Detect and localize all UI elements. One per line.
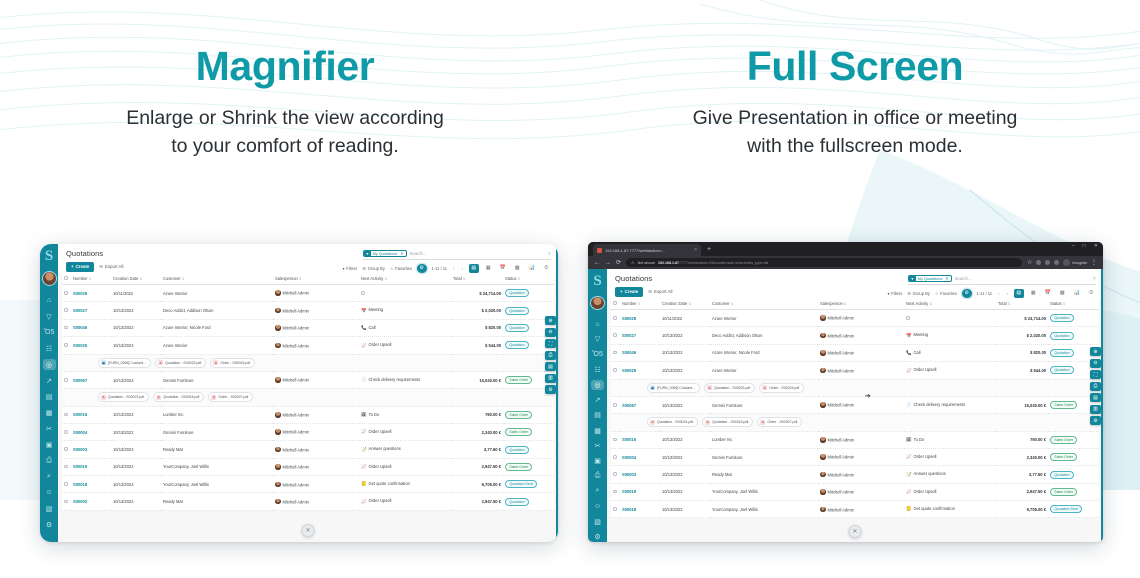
- checkbox-icon[interactable]: [64, 308, 68, 312]
- cell-creation-date: 10/11/2022: [111, 285, 161, 302]
- cell-customer: Deco Addict, Addison Olson: [710, 327, 818, 344]
- column-header-total[interactable]: Total⇅: [451, 273, 503, 285]
- quotation-number-link[interactable]: S00003: [622, 472, 636, 477]
- cell-creation-date: 10/13/2022: [111, 302, 161, 319]
- sort-icon[interactable]: ⇅: [638, 302, 641, 306]
- printer-icon[interactable]: ⎙: [43, 455, 56, 466]
- groupby-dropdown[interactable]: ☰ Group By: [362, 266, 385, 271]
- checkbox-icon[interactable]: [613, 333, 617, 337]
- attachment-chip[interactable]: AQuotation - S00023.pdf: [98, 392, 149, 402]
- calendar-icon[interactable]: Ὄ5: [43, 327, 56, 338]
- quotation-number-link[interactable]: S00002: [73, 499, 87, 504]
- sort-icon[interactable]: ⇅: [384, 277, 387, 281]
- checkbox-icon[interactable]: [613, 507, 617, 511]
- zoom-out-icon[interactable]: ⊖: [1090, 359, 1101, 368]
- table-row[interactable]: S0002810/11/2022Azure InteriorMitchell A…: [62, 285, 554, 302]
- column-header-customer[interactable]: Customer⇅: [710, 298, 818, 310]
- cell-number[interactable]: S00016: [71, 406, 111, 423]
- cell-number[interactable]: S00028: [620, 310, 660, 327]
- sort-icon[interactable]: ⇅: [688, 302, 691, 306]
- row-checkbox[interactable]: [62, 319, 71, 336]
- settings-icon[interactable]: ⚙: [545, 385, 556, 394]
- archive-icon[interactable]: ▤: [591, 410, 604, 420]
- sort-icon[interactable]: ⇅: [1063, 302, 1066, 306]
- column-header-customer[interactable]: Customer⇅: [161, 273, 273, 285]
- pivot-view-icon[interactable]: ▩: [1058, 289, 1068, 299]
- settings-icon[interactable]: ⚙: [43, 519, 56, 530]
- quotation-number-link[interactable]: S00016: [622, 437, 636, 442]
- row-checkbox[interactable]: [62, 493, 71, 510]
- avatar: [1063, 259, 1070, 266]
- column-header-status[interactable]: Status⇅: [503, 273, 545, 285]
- row-checkbox[interactable]: [611, 466, 620, 483]
- cell-end: [545, 458, 554, 475]
- column-header-creation-date[interactable]: Creation Date⇅: [660, 298, 710, 310]
- bookmark-star-icon[interactable]: ☆: [1027, 259, 1032, 266]
- search-facet[interactable]: ▼ My Quotations ✕: [908, 275, 952, 282]
- attachment-cell: ▣[FURN_0096] Customi...AQuotation - S000…: [611, 379, 1099, 396]
- list-view-icon[interactable]: ▤: [1014, 289, 1024, 299]
- checkbox-icon[interactable]: [613, 472, 617, 476]
- attachment-chip[interactable]: AQuotation - S00023.pdf: [704, 383, 755, 393]
- browser-tab[interactable]: 192.168.1.87:7777/web#action=... ×: [593, 244, 701, 256]
- quotation-number-link[interactable]: S00025: [73, 343, 87, 348]
- home-icon[interactable]: ⌂: [591, 319, 604, 329]
- maximize-icon[interactable]: □: [1083, 243, 1086, 249]
- sort-icon[interactable]: ⇅: [929, 302, 932, 306]
- kanban-view-icon[interactable]: ▦: [484, 264, 494, 274]
- attachment-chips: ▣[FURN_0096] Customi...AQuotation - S000…: [613, 383, 1097, 393]
- quotation-number-link[interactable]: S00019: [73, 464, 87, 469]
- favorites-dropdown[interactable]: ☆ Favorites: [390, 266, 412, 271]
- row-checkbox[interactable]: [62, 406, 71, 423]
- pivot-view-icon[interactable]: ▩: [513, 264, 523, 274]
- table-row[interactable]: S0000310/13/2022Ready MatMitchell Admin📝…: [62, 441, 554, 458]
- avatar: [275, 325, 281, 331]
- cell-customer: YourCompany, Joel Willis: [710, 501, 818, 518]
- row-checkbox[interactable]: [62, 337, 71, 354]
- checkbox-icon[interactable]: [64, 447, 68, 451]
- row-checkbox[interactable]: [611, 431, 620, 448]
- fullscreen-icon[interactable]: ⛶: [1090, 370, 1101, 379]
- sort-icon[interactable]: ⇅: [89, 277, 92, 281]
- checkbox-icon[interactable]: [64, 291, 68, 295]
- table-row[interactable]: S0002810/11/2022Azure InteriorMitchell A…: [611, 310, 1099, 327]
- row-checkbox[interactable]: [62, 423, 71, 440]
- cell-customer: Gemini Furniture: [161, 371, 273, 388]
- search-icon[interactable]: ⚲: [548, 251, 551, 257]
- vertical-scrollbar[interactable]: [1101, 269, 1103, 542]
- select-all-checkbox[interactable]: [611, 298, 620, 310]
- cell-end: [1090, 448, 1099, 465]
- cell-number[interactable]: S00027: [71, 302, 111, 319]
- target-icon[interactable]: ◎: [43, 359, 56, 370]
- checkbox-icon[interactable]: [613, 438, 617, 442]
- pager-prev-button[interactable]: ‹: [997, 291, 1000, 296]
- close-icon[interactable]: ×: [694, 247, 697, 253]
- search-icon[interactable]: ⚲: [1093, 276, 1096, 282]
- close-fab-button[interactable]: ✕: [302, 524, 315, 537]
- cell-number[interactable]: S00016: [620, 431, 660, 448]
- window-controls[interactable]: – □ ✕: [1072, 243, 1098, 249]
- total-amount: 760.00 €: [485, 412, 501, 417]
- search-icon[interactable]: ⌕: [591, 486, 604, 496]
- app-sidebar[interactable]: S⌂▽Ὄ5☷◎↗▤▦✂▣⎙⌕☺▧⚙: [588, 269, 607, 542]
- graph-view-icon[interactable]: 📊: [1072, 289, 1082, 299]
- filter-icon[interactable]: ▽: [43, 311, 56, 322]
- calendar-view-icon[interactable]: 📅: [498, 264, 508, 274]
- user-icon[interactable]: ☺: [43, 487, 56, 498]
- star-icon: ☆: [935, 291, 939, 296]
- activity-type-icon: 📈: [361, 343, 366, 348]
- cell-number[interactable]: S00057: [71, 371, 111, 388]
- table-row[interactable]: S0001610/13/2022Lumber IncMitchell Admin…: [62, 406, 554, 423]
- archive-icon[interactable]: ▤: [43, 391, 56, 402]
- app-sidebar[interactable]: S⌂▽Ὄ5☷◎↗▤▦✂▣⎙⌕☺▧⚙: [40, 244, 58, 542]
- groupby-dropdown[interactable]: ☰ Group By: [907, 291, 930, 296]
- quotation-number-link[interactable]: S00027: [73, 308, 87, 313]
- total-amount: 2,340.00 €: [482, 430, 501, 435]
- search-facet[interactable]: ▼ My Quotations ✕: [363, 250, 407, 257]
- table-row[interactable]: S0001810/13/2022YourCompany, Joel Willis…: [62, 476, 554, 493]
- sort-icon[interactable]: ⇅: [518, 277, 521, 281]
- cell-number[interactable]: S00046: [620, 344, 660, 361]
- attachment-label: Quotation - S00023.pdf: [165, 361, 201, 365]
- table-row[interactable]: S0002510/13/2022Azure InteriorMitchell A…: [611, 362, 1099, 379]
- quotation-number-link[interactable]: S00016: [73, 412, 87, 417]
- cell-number[interactable]: S00019: [620, 483, 660, 500]
- checkbox-icon[interactable]: [613, 301, 617, 305]
- column-header-salesperson[interactable]: Salesperson⇅: [273, 273, 359, 285]
- home-icon[interactable]: ⌂: [43, 295, 56, 306]
- quotation-number-link[interactable]: S00003: [73, 447, 87, 452]
- table-row[interactable]: S0000410/13/2022Gemini FurnitureMitchell…: [611, 448, 1099, 465]
- cell-number[interactable]: S00003: [620, 466, 660, 483]
- book-icon[interactable]: ▧: [43, 503, 56, 514]
- table-row[interactable]: S0004610/13/2022Azure Interior, Nicole F…: [62, 319, 554, 336]
- quotation-number-link[interactable]: S00046: [73, 325, 87, 330]
- column-header-next-activity[interactable]: Next Activity⇅: [904, 298, 996, 310]
- table-row[interactable]: S0002710/13/2022Deco Addict, Addison Ols…: [611, 327, 1099, 344]
- attachment-chip[interactable]: AOrder - S00015.pdf: [759, 383, 804, 393]
- settings-gear-button[interactable]: ⚙: [417, 264, 427, 274]
- row-checkbox[interactable]: [62, 476, 71, 493]
- close-window-icon[interactable]: ✕: [1094, 243, 1098, 249]
- reload-icon[interactable]: ⟳: [616, 259, 621, 266]
- incognito-indicator[interactable]: Incognito: [1063, 259, 1087, 266]
- column-header-label: Number: [622, 301, 637, 306]
- quotation-number-link[interactable]: S00027: [622, 333, 636, 338]
- app-logo[interactable]: S: [593, 274, 601, 289]
- search-bar[interactable]: ▼ My Quotations ✕ Search... ⚲: [363, 250, 551, 260]
- quotation-number-link[interactable]: S00004: [73, 430, 87, 435]
- filter-icon: ▼: [909, 276, 916, 281]
- grid-icon[interactable]: ▦: [43, 407, 56, 418]
- close-fab-button[interactable]: ✕: [849, 525, 862, 538]
- cell-number[interactable]: S00004: [620, 448, 660, 465]
- cell-number[interactable]: S00019: [71, 458, 111, 475]
- attachment-chip[interactable]: AQuotation - S00015.pdf: [702, 417, 753, 427]
- search-bar[interactable]: ▼ My Quotations ✕ Search... ⚲: [908, 275, 1096, 285]
- fullscreen-icon[interactable]: ⛶: [545, 339, 556, 348]
- settings-gear-button[interactable]: ⚙: [962, 289, 972, 299]
- checkbox-icon[interactable]: [64, 326, 68, 330]
- row-checkbox[interactable]: [62, 458, 71, 475]
- avatar[interactable]: [42, 271, 57, 286]
- target-icon[interactable]: ◎: [591, 380, 604, 390]
- activity-view-icon[interactable]: ⏱: [1087, 289, 1097, 299]
- cell-number[interactable]: S00028: [71, 285, 111, 302]
- row-checkbox[interactable]: [611, 501, 620, 518]
- sort-icon[interactable]: ⇅: [299, 277, 302, 281]
- quotation-number-link[interactable]: S00028: [622, 316, 636, 321]
- mouse-cursor-icon: ➔: [865, 392, 871, 400]
- chart-icon[interactable]: ↗: [591, 395, 604, 405]
- cell-number[interactable]: S00027: [620, 327, 660, 344]
- attachment-chips: ▣[FURN_0096] Customi...AQuotation - S000…: [64, 358, 552, 368]
- cell-number[interactable]: S00057: [620, 396, 660, 413]
- extension-icon[interactable]: [1045, 260, 1050, 265]
- zoom-in-icon[interactable]: ⊕: [545, 316, 556, 325]
- attachment-chip[interactable]: AQuotation - S00015.pdf: [153, 392, 204, 402]
- list-view-icon[interactable]: ▤: [469, 264, 479, 274]
- quotation-number-link[interactable]: S00004: [622, 455, 636, 460]
- quotations-table-wrapper-left[interactable]: Number⇅Creation Date⇅Customer⇅Salesperso…: [58, 273, 558, 542]
- table-row[interactable]: S0002710/13/2022Deco Addict, Addison Ols…: [62, 302, 554, 319]
- column-header-label: Next Activity: [906, 301, 928, 306]
- row-checkbox[interactable]: [62, 441, 71, 458]
- pager-next-button[interactable]: ›: [461, 266, 464, 271]
- settings-icon[interactable]: ⚙: [1090, 416, 1101, 425]
- quotation-number-link[interactable]: S00028: [73, 291, 87, 296]
- book-icon[interactable]: ▧: [591, 517, 604, 527]
- activity-view-icon[interactable]: ⏱: [542, 264, 552, 274]
- close-icon[interactable]: ✕: [945, 276, 950, 281]
- checkbox-icon[interactable]: [64, 276, 68, 280]
- cell-number[interactable]: S00025: [620, 362, 660, 379]
- forward-icon[interactable]: →: [605, 260, 611, 266]
- app-logo[interactable]: S: [45, 249, 53, 264]
- box-icon[interactable]: ▣: [591, 456, 604, 466]
- zoom-in-icon[interactable]: ⊕: [1090, 347, 1101, 356]
- attachment-chip[interactable]: ▣[FURN_0096] Customi...: [98, 358, 151, 368]
- sort-icon[interactable]: ⇅: [1008, 302, 1011, 306]
- extension-icon[interactable]: [1036, 260, 1041, 265]
- cell-next-activity: [359, 285, 451, 302]
- favorites-dropdown[interactable]: ☆ Favorites: [935, 291, 957, 296]
- cell-creation-date: 10/11/2022: [660, 310, 710, 327]
- attachment-cell: ▣[FURN_0096] Customi...AQuotation - S000…: [62, 354, 554, 371]
- calendar-icon[interactable]: Ὄ5: [591, 349, 604, 359]
- quotation-number-link[interactable]: S00018: [73, 482, 87, 487]
- create-button[interactable]: + Create: [66, 262, 94, 272]
- column-header-number[interactable]: Number⇅: [71, 273, 111, 285]
- attachment-chip[interactable]: AOrder - S00007.pdf: [757, 417, 802, 427]
- attachment-chip[interactable]: AQuotation - S00023.pdf: [155, 358, 206, 368]
- table-row[interactable]: S0000310/13/2022Ready MatMitchell Admin📝…: [611, 466, 1099, 483]
- sort-icon[interactable]: ⇅: [844, 302, 847, 306]
- row-checkbox[interactable]: [62, 285, 71, 302]
- quotation-number-link[interactable]: S00046: [622, 350, 636, 355]
- column-header-total[interactable]: Total⇅: [996, 298, 1048, 310]
- row-checkbox[interactable]: [611, 310, 620, 327]
- quotation-number-link[interactable]: S00025: [622, 368, 636, 373]
- checkbox-icon[interactable]: [64, 413, 68, 417]
- table-row[interactable]: S0005710/13/2022Gemini FurnitureMitchell…: [611, 396, 1099, 413]
- address-bar[interactable]: ⚠ Not secure 192.168.1.87:7777/web#actio…: [626, 258, 1022, 267]
- row-checkbox[interactable]: [62, 302, 71, 319]
- cell-number[interactable]: S00018: [620, 501, 660, 518]
- sort-icon[interactable]: ⇅: [182, 277, 185, 281]
- search-input[interactable]: Search...: [955, 276, 1090, 281]
- sort-icon[interactable]: ⇅: [731, 302, 734, 306]
- quotation-number-link[interactable]: S00018: [622, 507, 636, 512]
- new-tab-button[interactable]: +: [707, 244, 711, 256]
- quotation-number-link[interactable]: S00057: [73, 378, 87, 383]
- filter-icon[interactable]: ▽: [591, 334, 604, 344]
- table-row[interactable]: S0000410/13/2022Gemini FurnitureMitchell…: [62, 423, 554, 440]
- column-header-next-activity[interactable]: Next Activity⇅: [359, 273, 451, 285]
- minimize-icon[interactable]: –: [1072, 243, 1075, 249]
- extension-icon[interactable]: [1054, 260, 1059, 265]
- checkbox-icon[interactable]: [64, 378, 68, 382]
- cell-number[interactable]: S00018: [71, 476, 111, 493]
- url-host: 192.168.1.87: [658, 261, 679, 265]
- table-row[interactable]: S0001610/13/2022Lumber IncMitchell Admin…: [611, 431, 1099, 448]
- cell-total: 15,040.00 €: [996, 396, 1048, 413]
- table-row[interactable]: S0001810/13/2022YourCompany, Joel Willis…: [611, 501, 1099, 518]
- save-icon[interactable]: ▤: [1090, 393, 1101, 402]
- checkbox-icon[interactable]: [613, 455, 617, 459]
- settings-icon[interactable]: ⚙: [591, 532, 604, 542]
- cell-next-activity: 📝Answer questions: [359, 441, 451, 458]
- checkbox-icon[interactable]: [64, 500, 68, 504]
- chart-icon[interactable]: ↗: [43, 375, 56, 386]
- print-icon[interactable]: ⎙: [1090, 382, 1101, 391]
- floating-toolbar[interactable]: ⊕⊖⛶⎙▤▥⚙: [1090, 347, 1101, 425]
- export-icon[interactable]: ▥: [545, 374, 556, 383]
- printer-icon[interactable]: ⎙: [591, 471, 604, 481]
- status-badge: Quotation: [505, 498, 529, 506]
- row-checkbox[interactable]: [62, 371, 71, 388]
- table-row[interactable]: S0000210/13/2022Ready MatMitchell Admin📈…: [62, 493, 554, 510]
- zoom-out-icon[interactable]: ⊖: [545, 328, 556, 337]
- quotation-number-link[interactable]: S00057: [622, 403, 636, 408]
- cell-number[interactable]: S00046: [71, 319, 111, 336]
- total-amount: 9,705.00 €: [1027, 507, 1046, 512]
- sort-icon[interactable]: ⇅: [463, 277, 466, 281]
- pager-prev-button[interactable]: ‹: [452, 266, 455, 271]
- checkbox-icon[interactable]: [613, 490, 617, 494]
- attachment-chip[interactable]: AOrder - S00015.pdf: [210, 358, 255, 368]
- graph-view-icon[interactable]: 📊: [527, 264, 537, 274]
- filters-dropdown[interactable]: ▾ Filters: [343, 266, 358, 271]
- table-row[interactable]: S0004610/13/2022Azure Interior, Nicole F…: [611, 344, 1099, 361]
- cut-icon[interactable]: ✂: [43, 423, 56, 434]
- kanban-view-icon[interactable]: ▦: [1029, 289, 1039, 299]
- export-all-button[interactable]: ✉ Export All: [99, 264, 123, 270]
- table-row[interactable]: S0002510/13/2022Azure InteriorMitchell A…: [62, 337, 554, 354]
- back-icon[interactable]: ←: [594, 260, 600, 266]
- vertical-scrollbar[interactable]: [556, 244, 558, 542]
- search-input[interactable]: Search...: [410, 251, 545, 256]
- cell-number[interactable]: S00025: [71, 337, 111, 354]
- attachment-label: Quotation - S00015.pdf: [712, 420, 748, 424]
- calendar-view-icon[interactable]: 📅: [1043, 289, 1053, 299]
- grid-icon[interactable]: ▦: [591, 425, 604, 435]
- avatar[interactable]: [590, 296, 605, 310]
- panel-heading-fullscreen: Full Screen Give Presentation in office …: [570, 0, 1140, 175]
- column-header-number[interactable]: Number⇅: [620, 298, 660, 310]
- checkbox-icon[interactable]: [64, 465, 68, 469]
- image-file-icon: ▣: [650, 385, 655, 391]
- salesperson-name: Mitchell Admin: [283, 413, 309, 418]
- contacts-icon[interactable]: ☷: [43, 343, 56, 354]
- select-all-checkbox[interactable]: [62, 273, 71, 285]
- checkbox-icon[interactable]: [613, 351, 617, 355]
- row-checkbox[interactable]: [611, 362, 620, 379]
- checkbox-icon[interactable]: [64, 482, 68, 486]
- floating-toolbar[interactable]: ⊕⊖⛶⎙▤▥⚙: [545, 316, 556, 394]
- box-icon[interactable]: ▣: [43, 439, 56, 450]
- column-header-end: [545, 273, 554, 285]
- search-icon[interactable]: ⌕: [43, 471, 56, 482]
- filters-dropdown[interactable]: ▾ Filters: [888, 291, 903, 296]
- column-header-label: Next Activity: [361, 276, 383, 281]
- attachment-chip[interactable]: ▣[FURN_0096] Customi...: [647, 383, 700, 393]
- attachment-row: ▣[FURN_0096] Customi...AQuotation - S000…: [611, 379, 1099, 396]
- cell-number[interactable]: S00004: [71, 423, 111, 440]
- row-checkbox[interactable]: [611, 483, 620, 500]
- row-checkbox[interactable]: [611, 396, 620, 413]
- quotation-number-link[interactable]: S00019: [622, 489, 636, 494]
- column-header-salesperson[interactable]: Salesperson⇅: [818, 298, 904, 310]
- attachment-chip[interactable]: AQuotation - S00023.pdf: [647, 417, 698, 427]
- cell-number[interactable]: S00003: [71, 441, 111, 458]
- close-icon[interactable]: ✕: [400, 251, 405, 256]
- checkbox-icon[interactable]: [613, 403, 617, 407]
- column-header-creation-date[interactable]: Creation Date⇅: [111, 273, 161, 285]
- print-icon[interactable]: ⎙: [545, 351, 556, 360]
- save-icon[interactable]: ▤: [545, 362, 556, 371]
- checkbox-icon[interactable]: [613, 368, 617, 372]
- cell-number[interactable]: S00002: [71, 493, 111, 510]
- attachment-chip[interactable]: AOrder - S00007.pdf: [208, 392, 253, 402]
- row-checkbox[interactable]: [611, 344, 620, 361]
- table-row[interactable]: S0001910/13/2022YourCompany, Joel Willis…: [611, 483, 1099, 500]
- contacts-icon[interactable]: ☷: [591, 365, 604, 375]
- user-icon[interactable]: ☺: [591, 501, 604, 511]
- not-secure-label: Not secure: [638, 261, 655, 265]
- table-row[interactable]: S0005710/13/2022Gemini FurnitureMitchell…: [62, 371, 554, 388]
- pager-next-button[interactable]: ›: [1006, 291, 1009, 296]
- table-row[interactable]: S0001910/13/2022YourCompany, Joel Willis…: [62, 458, 554, 475]
- row-checkbox[interactable]: [611, 327, 620, 344]
- cut-icon[interactable]: ✂: [591, 441, 604, 451]
- checkbox-icon[interactable]: [64, 343, 68, 347]
- export-all-button[interactable]: ✉ Export All: [648, 289, 672, 295]
- row-checkbox[interactable]: [611, 448, 620, 465]
- create-button[interactable]: + Create: [615, 287, 643, 297]
- sort-icon[interactable]: ⇅: [139, 277, 142, 281]
- checkbox-icon[interactable]: [64, 430, 68, 434]
- column-header-status[interactable]: Status⇅: [1048, 298, 1090, 310]
- cell-end: [545, 476, 554, 493]
- menu-icon[interactable]: ⋮: [1091, 259, 1097, 266]
- quotations-table-wrapper-right[interactable]: Number⇅Creation Date⇅Customer⇅Salesperso…: [607, 298, 1103, 542]
- checkbox-icon[interactable]: [613, 316, 617, 320]
- export-icon[interactable]: ▥: [1090, 405, 1101, 414]
